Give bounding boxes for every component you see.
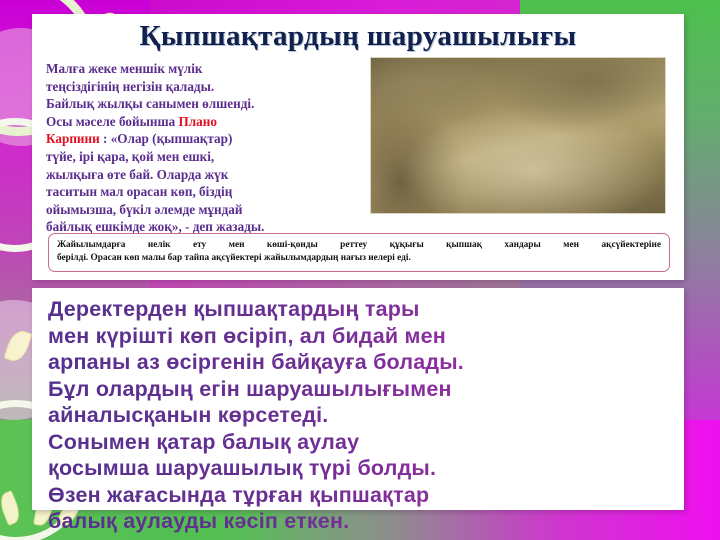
top-content-panel: Қыпшақтардың шаруашылығы Малға жеке менш…: [32, 14, 684, 280]
highlighted-note-box: Жайылымдарға иелік ету мен көші-қонды ре…: [48, 233, 670, 272]
bottom-content-panel: Деректерден қыпшақтардың тары мен күрішт…: [32, 288, 684, 510]
quote-line-8: таситын мал орасан көп, біздің: [46, 184, 232, 199]
highlight-name-first: Плано: [179, 114, 217, 129]
summary-line-7: қосымша шаруашылық түрі болды.: [48, 455, 672, 482]
presentation-slide: Қыпшақтардың шаруашылығы Малға жеке менш…: [0, 0, 720, 540]
summary-line-8: Өзен жағасында тұрған қыпшақтар: [48, 482, 672, 509]
summary-line-9: балық аулауды кәсіп еткен.: [48, 508, 672, 535]
top-panel-body: Малға жеке меншік мүлік теңсіздігінің не…: [32, 55, 684, 236]
bottom-panel-body: Деректерден қыпшақтардың тары мен күрішт…: [32, 288, 684, 535]
note-line-1: Жайылымдарға иелік ету мен көші-қонды ре…: [57, 239, 661, 252]
quote-line-1: Малға жеке меншік мүлік: [46, 61, 202, 76]
quote-line-6: түйе, ірі қара, қой мен ешкі,: [46, 149, 214, 164]
photo-landscape-layer: [371, 58, 665, 213]
quote-line-9: ойымызша, бүкіл әлемде мұндай: [46, 202, 242, 217]
summary-line-1: Деректерден қыпшақтардың тары: [48, 296, 672, 323]
summary-line-6: Сонымен қатар балық аулау: [48, 429, 672, 456]
summary-line-3: арпаны аз өсіргенін байқауға болады.: [48, 349, 672, 376]
quote-line-5: : «Олар (қыпшақтар): [100, 131, 233, 146]
highlight-name-last: Карпини: [46, 131, 100, 146]
quote-line-3: Байлық жылқы санымен өлшенді.: [46, 96, 254, 111]
livestock-herd-photo: [370, 57, 666, 214]
quote-line-7: жылқыға өте бай. Оларда жүк: [46, 167, 228, 182]
quote-line-4: Осы мәселе бойынша: [46, 114, 179, 129]
note-line-2: берілді. Орасан көп малы бар тайпа ақсүй…: [57, 252, 661, 265]
summary-line-5: айналысқанын көрсетеді.: [48, 402, 672, 429]
quote-paragraph: Малға жеке меншік мүлік теңсіздігінің не…: [46, 57, 364, 236]
page-title: Қыпшақтардың шаруашылығы: [32, 20, 684, 53]
quote-line-2: теңсіздігінің негізін қалады.: [46, 79, 214, 94]
summary-line-2: мен күрішті көп өсіріп, ал бидай мен: [48, 323, 672, 350]
summary-line-4: Бұл олардың егін шаруашылығымен: [48, 376, 672, 403]
